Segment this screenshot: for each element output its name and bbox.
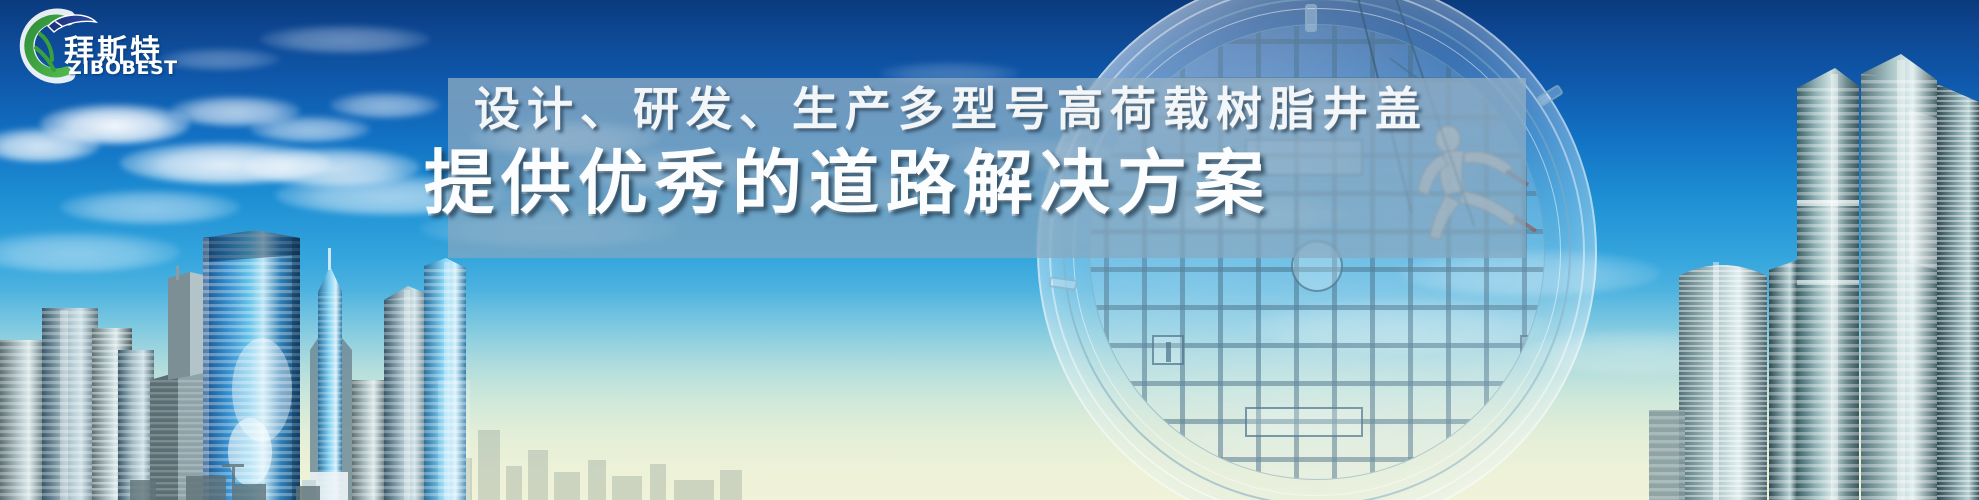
company-logo[interactable]: 拜斯特 ZIBOBEST	[12, 4, 172, 86]
distant-skyline	[430, 380, 760, 500]
logo-english-name: ZIBOBEST	[68, 57, 178, 79]
city-skyline-right	[1649, 40, 1979, 500]
headline-line-2: 提供优秀的道路解决方案	[424, 148, 1271, 218]
promo-banner: 设计、研发、生产多型号高荷载树脂井盖 提供优秀的道路解决方案	[0, 0, 1979, 500]
headline-line-1: 设计、研发、生产多型号高荷载树脂井盖	[474, 86, 1428, 132]
city-skyline-left	[0, 80, 470, 500]
